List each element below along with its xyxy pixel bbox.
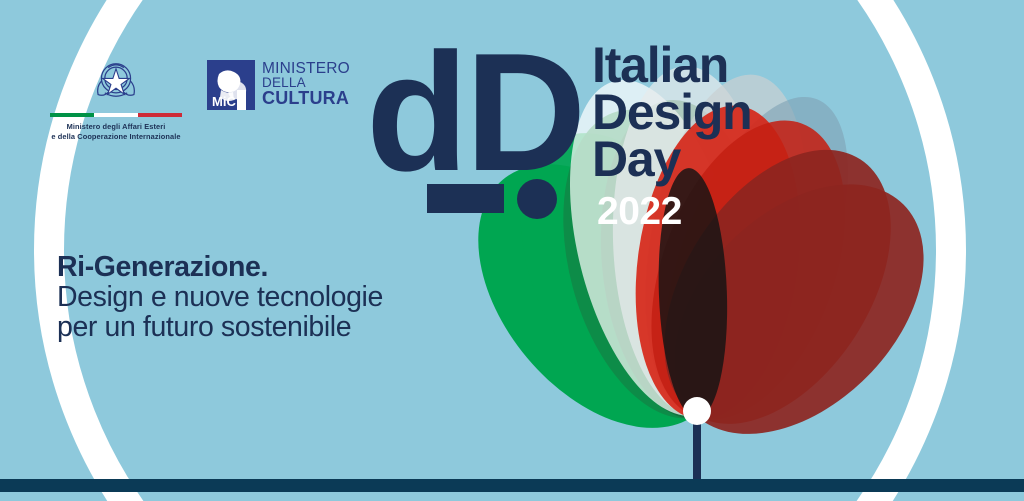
idd-title-line-1: Italian <box>592 42 752 89</box>
tagline-headline: Ri-Generazione. <box>57 252 383 282</box>
tagline-block: Ri-Generazione. Design e nuove tecnologi… <box>57 252 383 343</box>
mic-emblem-icon: MiC <box>207 60 255 110</box>
maeci-label-line2: e della Cooperazione Internazionale <box>46 132 186 142</box>
idd-title-line-3: Day <box>592 136 752 183</box>
maeci-logo: Ministero degli Affari Esteri e della Co… <box>46 52 186 142</box>
italian-republic-emblem-icon <box>88 52 144 108</box>
maeci-label-line1: Ministero degli Affari Esteri <box>46 122 186 132</box>
mic-label-line3: CULTURA <box>262 90 350 107</box>
idd-letter-d-upper: D <box>465 38 580 206</box>
tagline-line-2: Design e nuove tecnologie <box>57 282 383 312</box>
idd-letter-d-lower: d <box>370 38 469 206</box>
tagline-line-3: per un futuro sostenibile <box>57 312 383 342</box>
italian-tricolor-bar-icon <box>50 113 182 117</box>
idd-2022-poster: Ministero degli Affari Esteri e della Co… <box>0 0 1024 501</box>
mic-logo: MiC MINISTERO DELLA CULTURA <box>207 60 350 110</box>
idd-title-block: Italian Design Day 2022 <box>592 42 752 231</box>
mic-wordmark: MINISTERO DELLA CULTURA <box>262 62 350 107</box>
idd-title-line-2: Design <box>592 89 752 136</box>
idd-wordmark-logo: d D <box>370 38 580 228</box>
idd-period-dot <box>517 179 557 219</box>
idd-underscore-bar <box>427 184 504 213</box>
idd-year: 2022 <box>597 194 752 231</box>
white-pivot-dot <box>683 397 711 425</box>
navy-bottom-bar <box>0 479 1024 492</box>
mic-mark-text: MiC <box>212 94 236 109</box>
